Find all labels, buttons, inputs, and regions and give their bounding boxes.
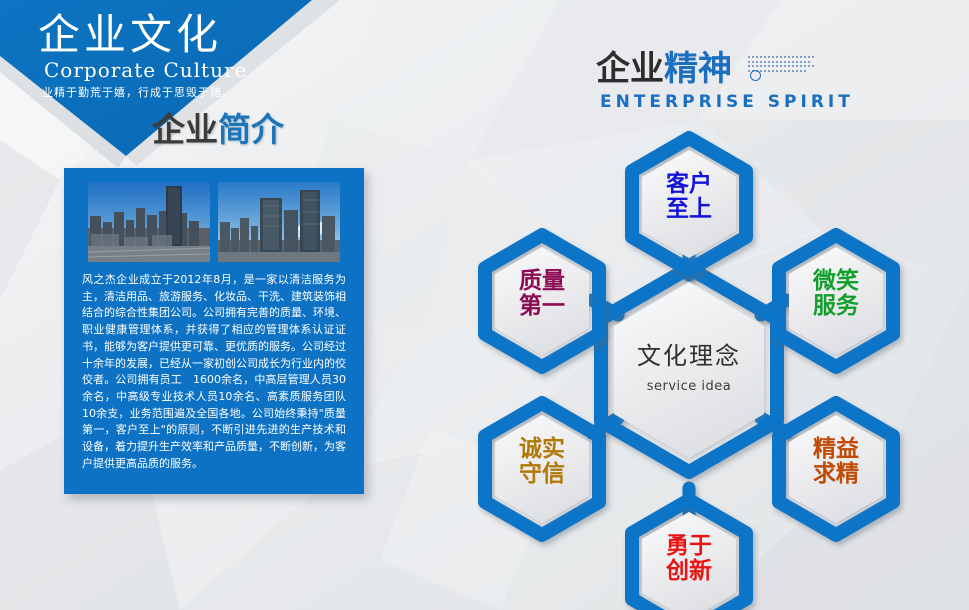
spirit-title-prefix: 企业 xyxy=(596,49,664,89)
company-intro-text: 风之杰企业成立于2012年8月，是一家以清洁服务为主，清洁用品、旅游服务、化妆品… xyxy=(82,272,346,473)
circle-accent-icon xyxy=(750,70,761,81)
cityscape-photo-left xyxy=(88,182,210,262)
poster-canvas: 企业文化 Corporate Culture 业精于勤荒于嬉，行成于思毁于随。 … xyxy=(0,0,969,610)
spirit-title-cn: 企业精神 xyxy=(596,52,732,86)
spirit-title-accent: 精神 xyxy=(664,49,732,89)
card-photo-row xyxy=(88,182,340,262)
culture-hexagon-cluster: 文化理念 service idea 客户 至上 微笑 服务 精益 求精 勇于 创… xyxy=(470,100,969,610)
section-title: 企业简介 xyxy=(152,113,284,146)
company-intro-card: 风之杰企业成立于2012年8月，是一家以清洁服务为主，清洁用品、旅游服务、化妆品… xyxy=(64,168,364,494)
section-title-accent: 简介 xyxy=(218,110,284,149)
section-title-prefix: 企业 xyxy=(152,110,218,149)
cityscape-photo-right xyxy=(218,182,340,262)
hexagon-graphics xyxy=(470,100,969,610)
